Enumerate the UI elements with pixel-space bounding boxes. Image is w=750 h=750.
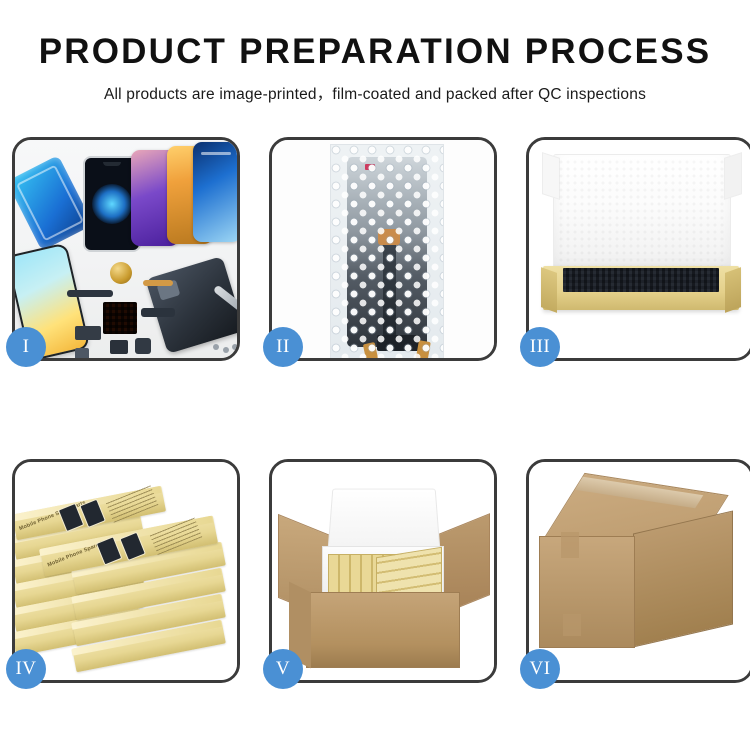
bubble-wrap-bag	[330, 144, 444, 358]
step-1-image	[15, 140, 237, 358]
step-6-image	[529, 462, 750, 680]
step-badge-4: IV	[6, 649, 46, 689]
steps-grid: I II	[12, 137, 738, 683]
page-subtitle: All products are image-printed，film-coat…	[0, 82, 750, 104]
foam-texture	[558, 159, 726, 269]
step-2-image	[272, 140, 494, 358]
packed-part-icon	[563, 268, 719, 292]
sim-tray-icon	[110, 340, 128, 354]
button-part-icon	[75, 326, 101, 340]
gold-tray-icon	[543, 266, 739, 310]
carton-body	[306, 592, 460, 668]
flex-cable-icon	[67, 290, 113, 297]
step-panel-2: II	[269, 137, 497, 361]
step-5-image	[272, 462, 494, 680]
speaker-coil-icon	[110, 262, 132, 284]
camera-module-icon	[141, 308, 175, 317]
header: PRODUCT PREPARATION PROCESS All products…	[0, 0, 750, 104]
adhesive-frame-icon	[15, 155, 94, 251]
box-spec-lines-1	[106, 484, 159, 522]
step-badge-2: II	[263, 327, 303, 367]
vibrator-icon	[135, 338, 151, 354]
sealed-carton-side	[633, 510, 733, 647]
step-4-image: Mobile Phone Spare Parts Mobile Phone Sp…	[15, 462, 237, 680]
chip-grid-icon	[103, 302, 137, 334]
infographic-page: PRODUCT PREPARATION PROCESS All products…	[0, 0, 750, 750]
step-panel-1: I	[12, 137, 240, 361]
foam-box-lid-icon	[327, 489, 440, 553]
bubble-texture	[331, 145, 443, 358]
small-part-icon	[75, 348, 89, 358]
phone-blue-icon	[193, 142, 237, 242]
tray-flap-left	[541, 267, 557, 313]
phone-back-housing-icon	[145, 256, 237, 354]
sealed-carton-front	[539, 536, 635, 648]
carton-seam-top	[561, 532, 579, 558]
step-panel-5: V	[269, 459, 497, 683]
step-3-image	[529, 140, 750, 358]
page-title: PRODUCT PREPARATION PROCESS	[0, 34, 750, 71]
step-panel-4: Mobile Phone Spare Parts Mobile Phone Sp…	[12, 459, 240, 683]
white-foam-lid-icon	[553, 154, 731, 274]
step-badge-6: VI	[520, 649, 560, 689]
carton-seam-bottom	[563, 614, 581, 636]
tray-flap-right	[725, 267, 741, 313]
gold-box-stack: Mobile Phone Spare Parts Mobile Phone Sp…	[15, 478, 237, 678]
step-badge-1: I	[6, 327, 46, 367]
step-panel-3: III	[526, 137, 750, 361]
step-panel-6: VI	[526, 459, 750, 683]
step-badge-3: III	[520, 327, 560, 367]
screws-icon	[213, 344, 237, 352]
gold-connector-icon	[143, 280, 173, 286]
step-badge-5: V	[263, 649, 303, 689]
